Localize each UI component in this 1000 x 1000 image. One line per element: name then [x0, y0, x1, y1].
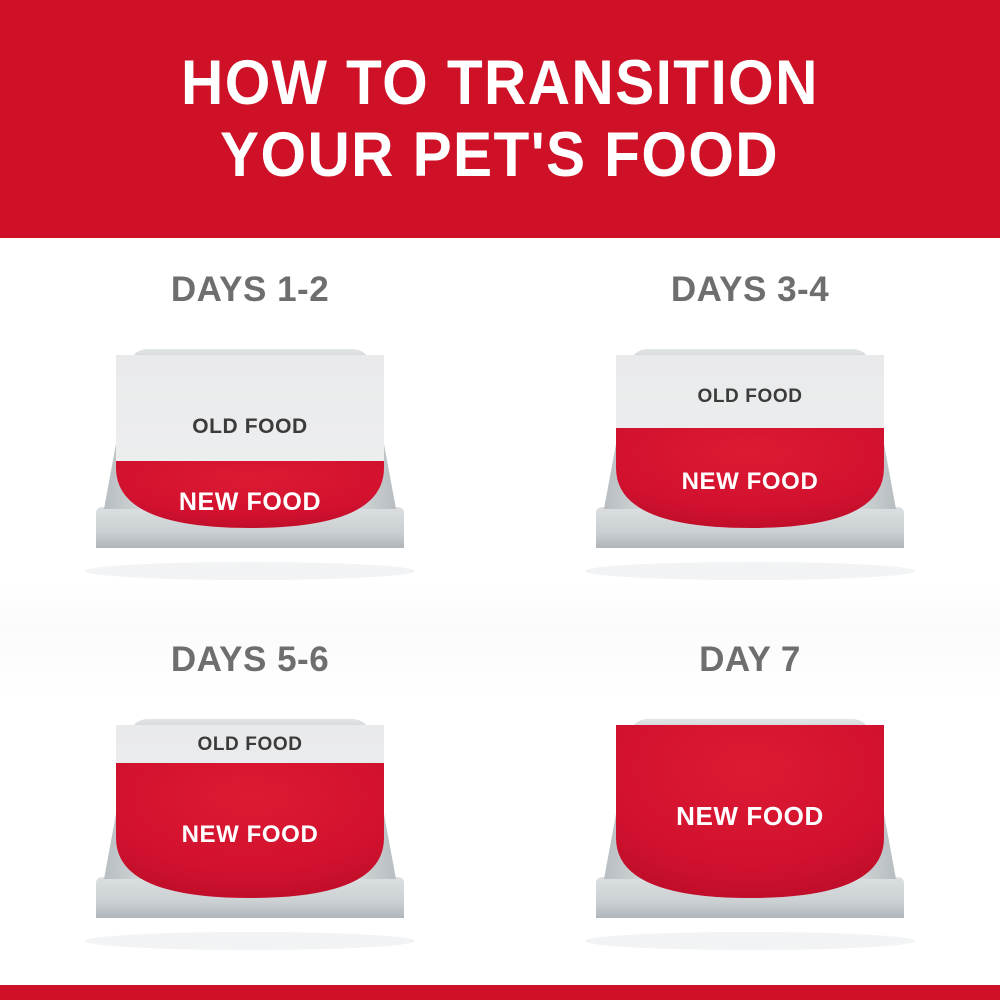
header-title-line-1: HOW TO TRANSITION [181, 47, 819, 119]
bowl-shadow [585, 932, 915, 950]
header-title-line-2: YOUR PET'S FOOD [221, 119, 780, 191]
bowl-svg [60, 323, 440, 583]
new-food-fill [616, 725, 884, 898]
bowl-illustration: OLD FOOD NEW FOOD [560, 323, 940, 583]
new-food-fill [116, 763, 384, 898]
bowl-illustration: OLD FOOD NEW FOOD [60, 693, 440, 953]
bowl-shadow [85, 932, 415, 950]
bowl-illustration: NEW FOOD [560, 693, 940, 953]
bowl-svg [560, 323, 940, 583]
bowl-svg [60, 693, 440, 953]
bowl-svg [560, 693, 940, 953]
header-banner: HOW TO TRANSITION YOUR PET'S FOOD [0, 0, 1000, 238]
panel-title: DAYS 3-4 [671, 271, 829, 309]
panel-title: DAY 7 [699, 641, 801, 679]
footer-bar [0, 985, 1000, 1000]
panel-title: DAYS 1-2 [171, 271, 329, 309]
panel-days-5-6: DAYS 5-6 OLD FOOD NEW FOOD [0, 608, 500, 978]
panel-days-3-4: DAYS 3-4 OLD FOOD NEW FOOD [500, 238, 1000, 608]
bowl-illustration: OLD FOOD NEW FOOD [60, 323, 440, 583]
new-food-fill [616, 428, 884, 528]
bowl-grid: DAYS 1-2 [0, 238, 1000, 978]
panel-day-7: DAY 7 NEW FOOD [500, 608, 1000, 978]
panel-days-1-2: DAYS 1-2 [0, 238, 500, 608]
bowl-shadow [585, 562, 915, 580]
panel-title: DAYS 5-6 [171, 641, 329, 679]
bowl-shadow [85, 562, 415, 580]
